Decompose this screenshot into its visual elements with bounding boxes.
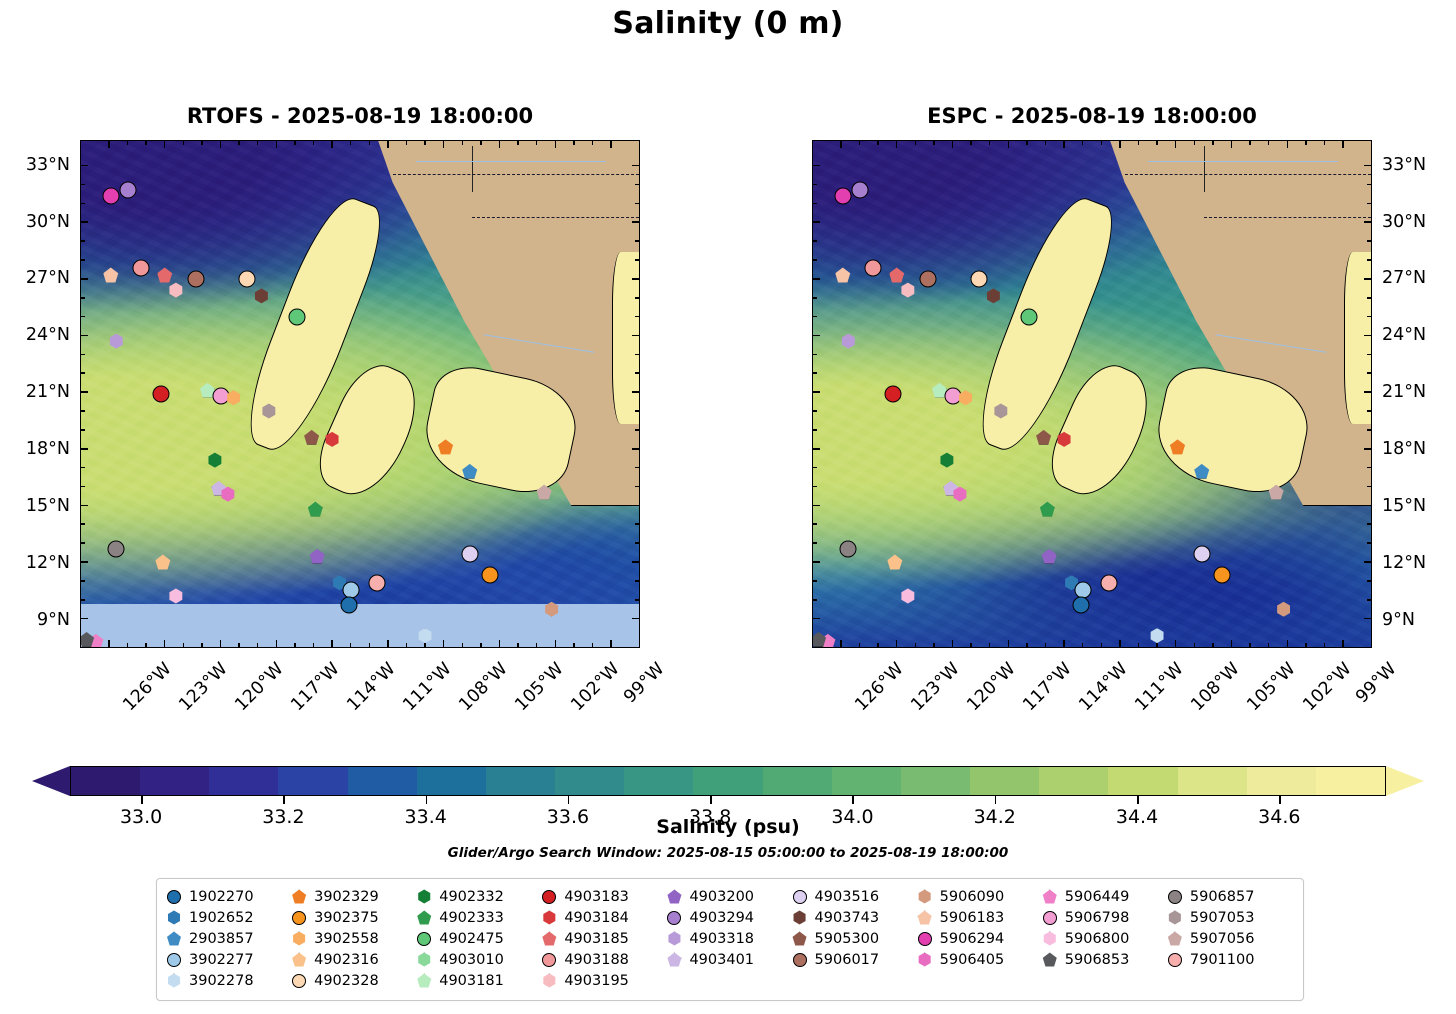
legend-item[interactable]: 5906090 [918, 887, 1043, 906]
float-marker[interactable] [102, 187, 119, 204]
legend-marker-icon [292, 953, 306, 967]
legend-column: 5906090590618359062945906405 [918, 887, 1043, 990]
float-marker[interactable] [119, 182, 136, 199]
y-tick [632, 448, 639, 450]
legend-item-label: 5906853 [1065, 952, 1130, 968]
legend-item[interactable]: 2903857 [167, 929, 292, 948]
y-tick-minor [81, 354, 85, 356]
legend-item-label: 5906798 [1065, 910, 1130, 926]
y-tick-label: 15°N [26, 496, 70, 516]
colorbar: 33.033.233.433.633.834.034.234.434.6 [32, 766, 1424, 796]
legend-item-label: 4903200 [689, 889, 754, 905]
float-marker[interactable] [461, 546, 478, 563]
y-tick [81, 561, 88, 563]
y-tick-minor [635, 184, 639, 186]
colorbar-segment [1039, 767, 1108, 795]
y-tick [813, 278, 820, 280]
panel-rtofs-title: RTOFS - 2025-08-19 18:00:00 [80, 104, 640, 128]
float-marker[interactable] [1100, 574, 1117, 591]
y-tick-label: 33°N [26, 155, 70, 175]
legend-item-label: 2903857 [189, 931, 254, 947]
legend-column: 5906449590679859068005906853 [1043, 887, 1168, 990]
x-tick-minor [1101, 643, 1103, 647]
legend-item[interactable]: 4903185 [542, 929, 667, 948]
legend-marker-icon [1168, 932, 1182, 946]
y-tick [1364, 448, 1371, 450]
y-tick-minor [635, 259, 639, 261]
y-tick-minor [1367, 523, 1371, 525]
x-tick-minor [424, 141, 426, 145]
legend-marker-icon [793, 911, 807, 925]
y-tick [1364, 278, 1371, 280]
legend-item[interactable]: 4902333 [417, 908, 542, 927]
legend-item-label: 5906090 [940, 889, 1005, 905]
legend-marker-icon [542, 932, 556, 946]
x-tick [952, 640, 954, 647]
x-tick-label: 111°W [1131, 659, 1187, 715]
x-tick-label: 108°W [1187, 659, 1243, 715]
x-tick [276, 640, 278, 647]
legend-marker-icon [1043, 932, 1057, 946]
x-tick-label: 114°W [343, 659, 399, 715]
y-tick-minor [635, 467, 639, 469]
legend-item[interactable]: 4903181 [417, 971, 542, 990]
x-tick-minor [1268, 643, 1270, 647]
y-tick-minor [81, 259, 85, 261]
y-tick-minor [1367, 203, 1371, 205]
float-marker[interactable] [152, 386, 169, 403]
legend-item[interactable]: 5906800 [1043, 929, 1168, 948]
y-tick [632, 561, 639, 563]
legend-item[interactable]: 4903294 [667, 908, 792, 927]
x-tick [610, 141, 612, 148]
x-tick [1231, 640, 1233, 647]
y-tick-minor [635, 316, 639, 318]
x-tick-minor [989, 643, 991, 647]
x-tick-label: 120°W [231, 659, 287, 715]
colorbar-tick [852, 796, 854, 804]
float-marker[interactable] [851, 182, 868, 199]
legend-item[interactable]: 5906449 [1043, 887, 1168, 906]
y-tick [1364, 391, 1371, 393]
legend-marker-icon [793, 890, 807, 904]
x-tick-minor [859, 643, 861, 647]
legend-item[interactable]: 4903195 [542, 971, 667, 990]
x-tick [840, 640, 842, 647]
float-marker[interactable] [108, 540, 125, 557]
legend-item[interactable]: 4903743 [793, 908, 918, 927]
legend-item-label: 5906800 [1065, 931, 1130, 947]
float-marker[interactable] [212, 387, 229, 404]
y-tick [813, 561, 820, 563]
float-marker[interactable] [482, 567, 499, 584]
y-tick-minor [81, 599, 85, 601]
legend-marker-icon [167, 890, 181, 904]
x-tick-minor [127, 643, 129, 647]
legend-marker-icon [793, 932, 807, 946]
x-tick [164, 640, 166, 647]
legend-marker-icon [167, 953, 181, 967]
x-tick-minor [201, 643, 203, 647]
legend-item[interactable]: 1902652 [167, 908, 292, 927]
x-tick-label: 102°W [1299, 659, 1355, 715]
x-tick-minor [1324, 141, 1326, 145]
x-tick-label: 123°W [175, 659, 231, 715]
x-tick-minor [573, 141, 575, 145]
y-tick-label: 9°N [1382, 610, 1415, 630]
x-tick-minor [1138, 141, 1140, 145]
x-tick-minor [1082, 643, 1084, 647]
legend-marker-icon [667, 911, 681, 925]
x-tick-minor [480, 141, 482, 145]
y-tick [1364, 505, 1371, 507]
y-tick-label: 24°N [26, 325, 70, 345]
colorbar-segment [1316, 767, 1385, 795]
y-tick-minor [635, 523, 639, 525]
y-tick-minor [813, 184, 817, 186]
legend-item[interactable]: 4903516 [793, 887, 918, 906]
x-tick-minor [933, 141, 935, 145]
legend-item-label: 4903401 [689, 952, 754, 968]
y-tick-label: 30°N [1382, 212, 1426, 232]
legend-item[interactable]: 3902558 [292, 929, 417, 948]
state-border [472, 217, 639, 218]
x-tick-minor [970, 141, 972, 145]
x-tick-minor [592, 643, 594, 647]
legend-item[interactable]: 5907056 [1168, 929, 1293, 948]
legend-item-label: 3902329 [314, 889, 379, 905]
x-tick [1175, 141, 1177, 148]
y-tick [1364, 561, 1371, 563]
legend-item-label: 5906183 [940, 910, 1005, 926]
x-tick-minor [536, 643, 538, 647]
legend-item[interactable]: 4903183 [542, 887, 667, 906]
legend-item-label: 4902316 [314, 952, 379, 968]
x-tick [164, 141, 166, 148]
x-tick-minor [915, 141, 917, 145]
legend-item[interactable]: 3902375 [292, 908, 417, 927]
legend-marker-icon [793, 953, 807, 967]
legend-item[interactable]: 3902329 [292, 887, 417, 906]
legend-marker-icon [667, 932, 681, 946]
map-rtofs[interactable] [80, 140, 640, 648]
float-marker[interactable] [840, 540, 857, 557]
y-tick-minor [1367, 429, 1371, 431]
x-tick [896, 141, 898, 148]
country-border [393, 174, 639, 175]
colorbar-tick [1137, 796, 1139, 804]
legend-item[interactable]: 5907053 [1168, 908, 1293, 927]
y-tick-label: 33°N [1382, 155, 1426, 175]
x-tick-minor [369, 643, 371, 647]
x-tick [555, 640, 557, 647]
y-tick-label: 24°N [1382, 325, 1426, 345]
legend-marker-icon [1043, 953, 1057, 967]
x-tick [387, 640, 389, 647]
legend-item[interactable]: 4903010 [417, 950, 542, 969]
y-tick-minor [1367, 410, 1371, 412]
y-tick-minor [81, 297, 85, 299]
x-tick [331, 640, 333, 647]
y-tick-label: 9°N [37, 610, 70, 630]
legend-marker-icon [417, 911, 431, 925]
legend-column: 19022701902652290385739022773902278 [167, 887, 292, 990]
x-tick-minor [877, 643, 879, 647]
legend-marker-icon [1043, 911, 1057, 925]
x-tick-minor [1194, 141, 1196, 145]
y-tick-label: 27°N [1382, 268, 1426, 288]
y-tick-minor [813, 542, 817, 544]
colorbar-tick [568, 796, 570, 804]
x-tick [108, 141, 110, 148]
x-tick-minor [294, 643, 296, 647]
legend-item-label: 4903318 [689, 931, 754, 947]
float-marker[interactable] [238, 270, 255, 287]
legend-marker-icon [918, 953, 932, 967]
x-tick-minor [915, 643, 917, 647]
legend-item[interactable]: 5906405 [918, 950, 1043, 969]
y-tick-minor [813, 372, 817, 374]
float-marker[interactable] [288, 308, 305, 325]
legend-marker-icon [167, 932, 181, 946]
x-tick-minor [573, 643, 575, 647]
y-tick [813, 335, 820, 337]
float-marker[interactable] [1214, 567, 1231, 584]
legend-item[interactable]: 4903184 [542, 908, 667, 927]
legend-marker-icon [918, 890, 932, 904]
y-tick-minor [1367, 542, 1371, 544]
y-tick-minor [813, 429, 817, 431]
float-marker[interactable] [884, 386, 901, 403]
legend-item[interactable]: 4902475 [417, 929, 542, 948]
colorbar-segment [1247, 767, 1316, 795]
float-marker[interactable] [1072, 597, 1089, 614]
legend-columns: 1902270190265229038573902277390227839023… [167, 887, 1293, 990]
colorbar-segment [71, 767, 140, 795]
legend-marker-icon [542, 911, 556, 925]
legend-item-label: 1902270 [189, 889, 254, 905]
y-tick [813, 618, 820, 620]
y-tick-minor [81, 372, 85, 374]
legend-item[interactable]: 5905300 [793, 929, 918, 948]
x-tick-minor [406, 141, 408, 145]
colorbar-tick [426, 796, 428, 804]
x-tick [331, 141, 333, 148]
colorbar-segment [970, 767, 1039, 795]
x-tick-minor [183, 643, 185, 647]
legend-item-label: 4903188 [564, 952, 629, 968]
x-tick-label: 105°W [1243, 659, 1299, 715]
x-tick-label: 102°W [567, 659, 623, 715]
legend-item[interactable]: 4902332 [417, 887, 542, 906]
x-tick-minor [257, 141, 259, 145]
y-tick-minor [635, 354, 639, 356]
x-tick-minor [127, 141, 129, 145]
x-tick-minor [1324, 643, 1326, 647]
x-tick [499, 640, 501, 647]
legend-item[interactable]: 5906183 [918, 908, 1043, 927]
legend-item[interactable]: 5906017 [793, 950, 918, 969]
float-marker[interactable] [340, 597, 357, 614]
x-tick [220, 640, 222, 647]
legend-item[interactable]: 4903188 [542, 950, 667, 969]
legend-marker-icon [292, 890, 306, 904]
y-tick [813, 391, 820, 393]
legend-marker-icon [542, 953, 556, 967]
legend-column: 4903516490374359053005906017 [793, 887, 918, 990]
x-tick-minor [1249, 141, 1251, 145]
y-tick-label: 18°N [26, 439, 70, 459]
y-tick-minor [81, 429, 85, 431]
legend-item[interactable]: 3902278 [167, 971, 292, 990]
x-tick [1342, 640, 1344, 647]
x-tick-label: 117°W [1019, 659, 1075, 715]
y-tick-minor [1367, 259, 1371, 261]
x-tick-label: 126°W [851, 659, 907, 715]
float-marker[interactable] [368, 574, 385, 591]
legend-marker-icon [417, 974, 431, 988]
x-tick-minor [1212, 141, 1214, 145]
x-tick-minor [145, 643, 147, 647]
x-tick-label: 105°W [511, 659, 567, 715]
legend-item[interactable]: 5906857 [1168, 887, 1293, 906]
legend-item[interactable]: 4902316 [292, 950, 417, 969]
figure-title: Salinity (0 m) [0, 6, 1456, 41]
x-tick-label: 126°W [119, 659, 175, 715]
float-marker[interactable] [970, 270, 987, 287]
x-tick-minor [1101, 141, 1103, 145]
legend-marker-icon [417, 890, 431, 904]
x-tick-minor [313, 141, 315, 145]
y-tick-minor [1367, 240, 1371, 242]
y-tick [813, 505, 820, 507]
y-tick-minor [813, 486, 817, 488]
x-tick-minor [294, 141, 296, 145]
y-tick-label: 27°N [26, 268, 70, 288]
x-tick-minor [592, 141, 594, 145]
legend-item[interactable]: 5906294 [918, 929, 1043, 948]
colorbar-segment [763, 767, 832, 795]
x-tick [1008, 640, 1010, 647]
x-tick-label: 108°W [455, 659, 511, 715]
country-border [1125, 174, 1371, 175]
x-tick-label: 99°W [620, 659, 668, 707]
y-tick-label: 12°N [26, 553, 70, 573]
y-tick-minor [81, 316, 85, 318]
float-marker[interactable] [132, 259, 149, 276]
x-tick-minor [1212, 643, 1214, 647]
legend-item[interactable]: 4903200 [667, 887, 792, 906]
y-tick-minor [81, 580, 85, 582]
legend-item-label: 4903181 [439, 973, 504, 989]
y-tick-label: 12°N [1382, 553, 1426, 573]
state-line-vertical [472, 146, 473, 192]
x-tick [1175, 640, 1177, 647]
legend-item[interactable]: 5906853 [1043, 950, 1168, 969]
legend-marker-icon [167, 974, 181, 988]
y-tick [81, 448, 88, 450]
y-tick [81, 505, 88, 507]
x-tick [952, 141, 954, 148]
x-tick-minor [1268, 141, 1270, 145]
x-tick-minor [369, 141, 371, 145]
x-tick-label: 114°W [1075, 659, 1131, 715]
y-tick-minor [635, 486, 639, 488]
y-tick-minor [1367, 467, 1371, 469]
y-tick [813, 221, 820, 223]
legend-item-label: 5906017 [815, 952, 880, 968]
legend-item[interactable]: 3902277 [167, 950, 292, 969]
y-tick [81, 221, 88, 223]
colorbar-tick [995, 796, 997, 804]
legend-column: 49023324902333490247549030104903181 [417, 887, 542, 990]
panel-espc: ESPC - 2025-08-19 18:00:00 126°W123°W120… [812, 140, 1372, 648]
legend-item[interactable]: 4903401 [667, 950, 792, 969]
legend-item-label: 4902328 [314, 973, 379, 989]
legend-marker-icon [542, 974, 556, 988]
y-tick-minor [813, 410, 817, 412]
legend-item-label: 4903010 [439, 952, 504, 968]
float-marker[interactable] [864, 259, 881, 276]
y-tick-minor [1367, 184, 1371, 186]
x-tick [555, 141, 557, 148]
legend-item-label: 4902332 [439, 889, 504, 905]
x-tick-label: 99°W [1352, 659, 1400, 707]
legend-column: 39023293902375390255849023164902328 [292, 887, 417, 990]
map-espc[interactable] [812, 140, 1372, 648]
y-tick [81, 335, 88, 337]
x-tick-minor [350, 141, 352, 145]
legend-marker-icon [1168, 953, 1182, 967]
colorbar-segment [348, 767, 417, 795]
y-tick-minor [635, 429, 639, 431]
x-tick-minor [183, 141, 185, 145]
float-marker[interactable] [944, 387, 961, 404]
y-tick-minor [1367, 580, 1371, 582]
x-tick [610, 640, 612, 647]
y-tick-minor [1367, 486, 1371, 488]
colorbar-segment [624, 767, 693, 795]
legend-item-label: 4903195 [564, 973, 629, 989]
float-marker[interactable] [1193, 546, 1210, 563]
x-tick-minor [1138, 643, 1140, 647]
legend-item-label: 4903184 [564, 910, 629, 926]
colorbar-segment [486, 767, 555, 795]
legend-item[interactable]: 7901100 [1168, 950, 1293, 969]
legend-item[interactable]: 4902328 [292, 971, 417, 990]
colorbar-tick [710, 796, 712, 804]
legend-item-label: 3902277 [189, 952, 254, 968]
legend-item[interactable]: 1902270 [167, 887, 292, 906]
colorbar-tick [283, 796, 285, 804]
legend-marker-icon [667, 953, 681, 967]
legend-item-label: 5906449 [1065, 889, 1130, 905]
x-tick-minor [1156, 643, 1158, 647]
x-tick-minor [989, 141, 991, 145]
x-tick-minor [877, 141, 879, 145]
float-marker[interactable] [920, 270, 937, 287]
float-marker[interactable] [1020, 308, 1037, 325]
legend-item[interactable]: 5906798 [1043, 908, 1168, 927]
legend-marker-icon [1168, 911, 1182, 925]
legend-item-label: 5907053 [1190, 910, 1255, 926]
float-marker[interactable] [834, 187, 851, 204]
legend-item[interactable]: 4903318 [667, 929, 792, 948]
float-marker[interactable] [188, 270, 205, 287]
colorbar-segment [278, 767, 347, 795]
x-tick-minor [517, 141, 519, 145]
x-tick-minor [1026, 643, 1028, 647]
